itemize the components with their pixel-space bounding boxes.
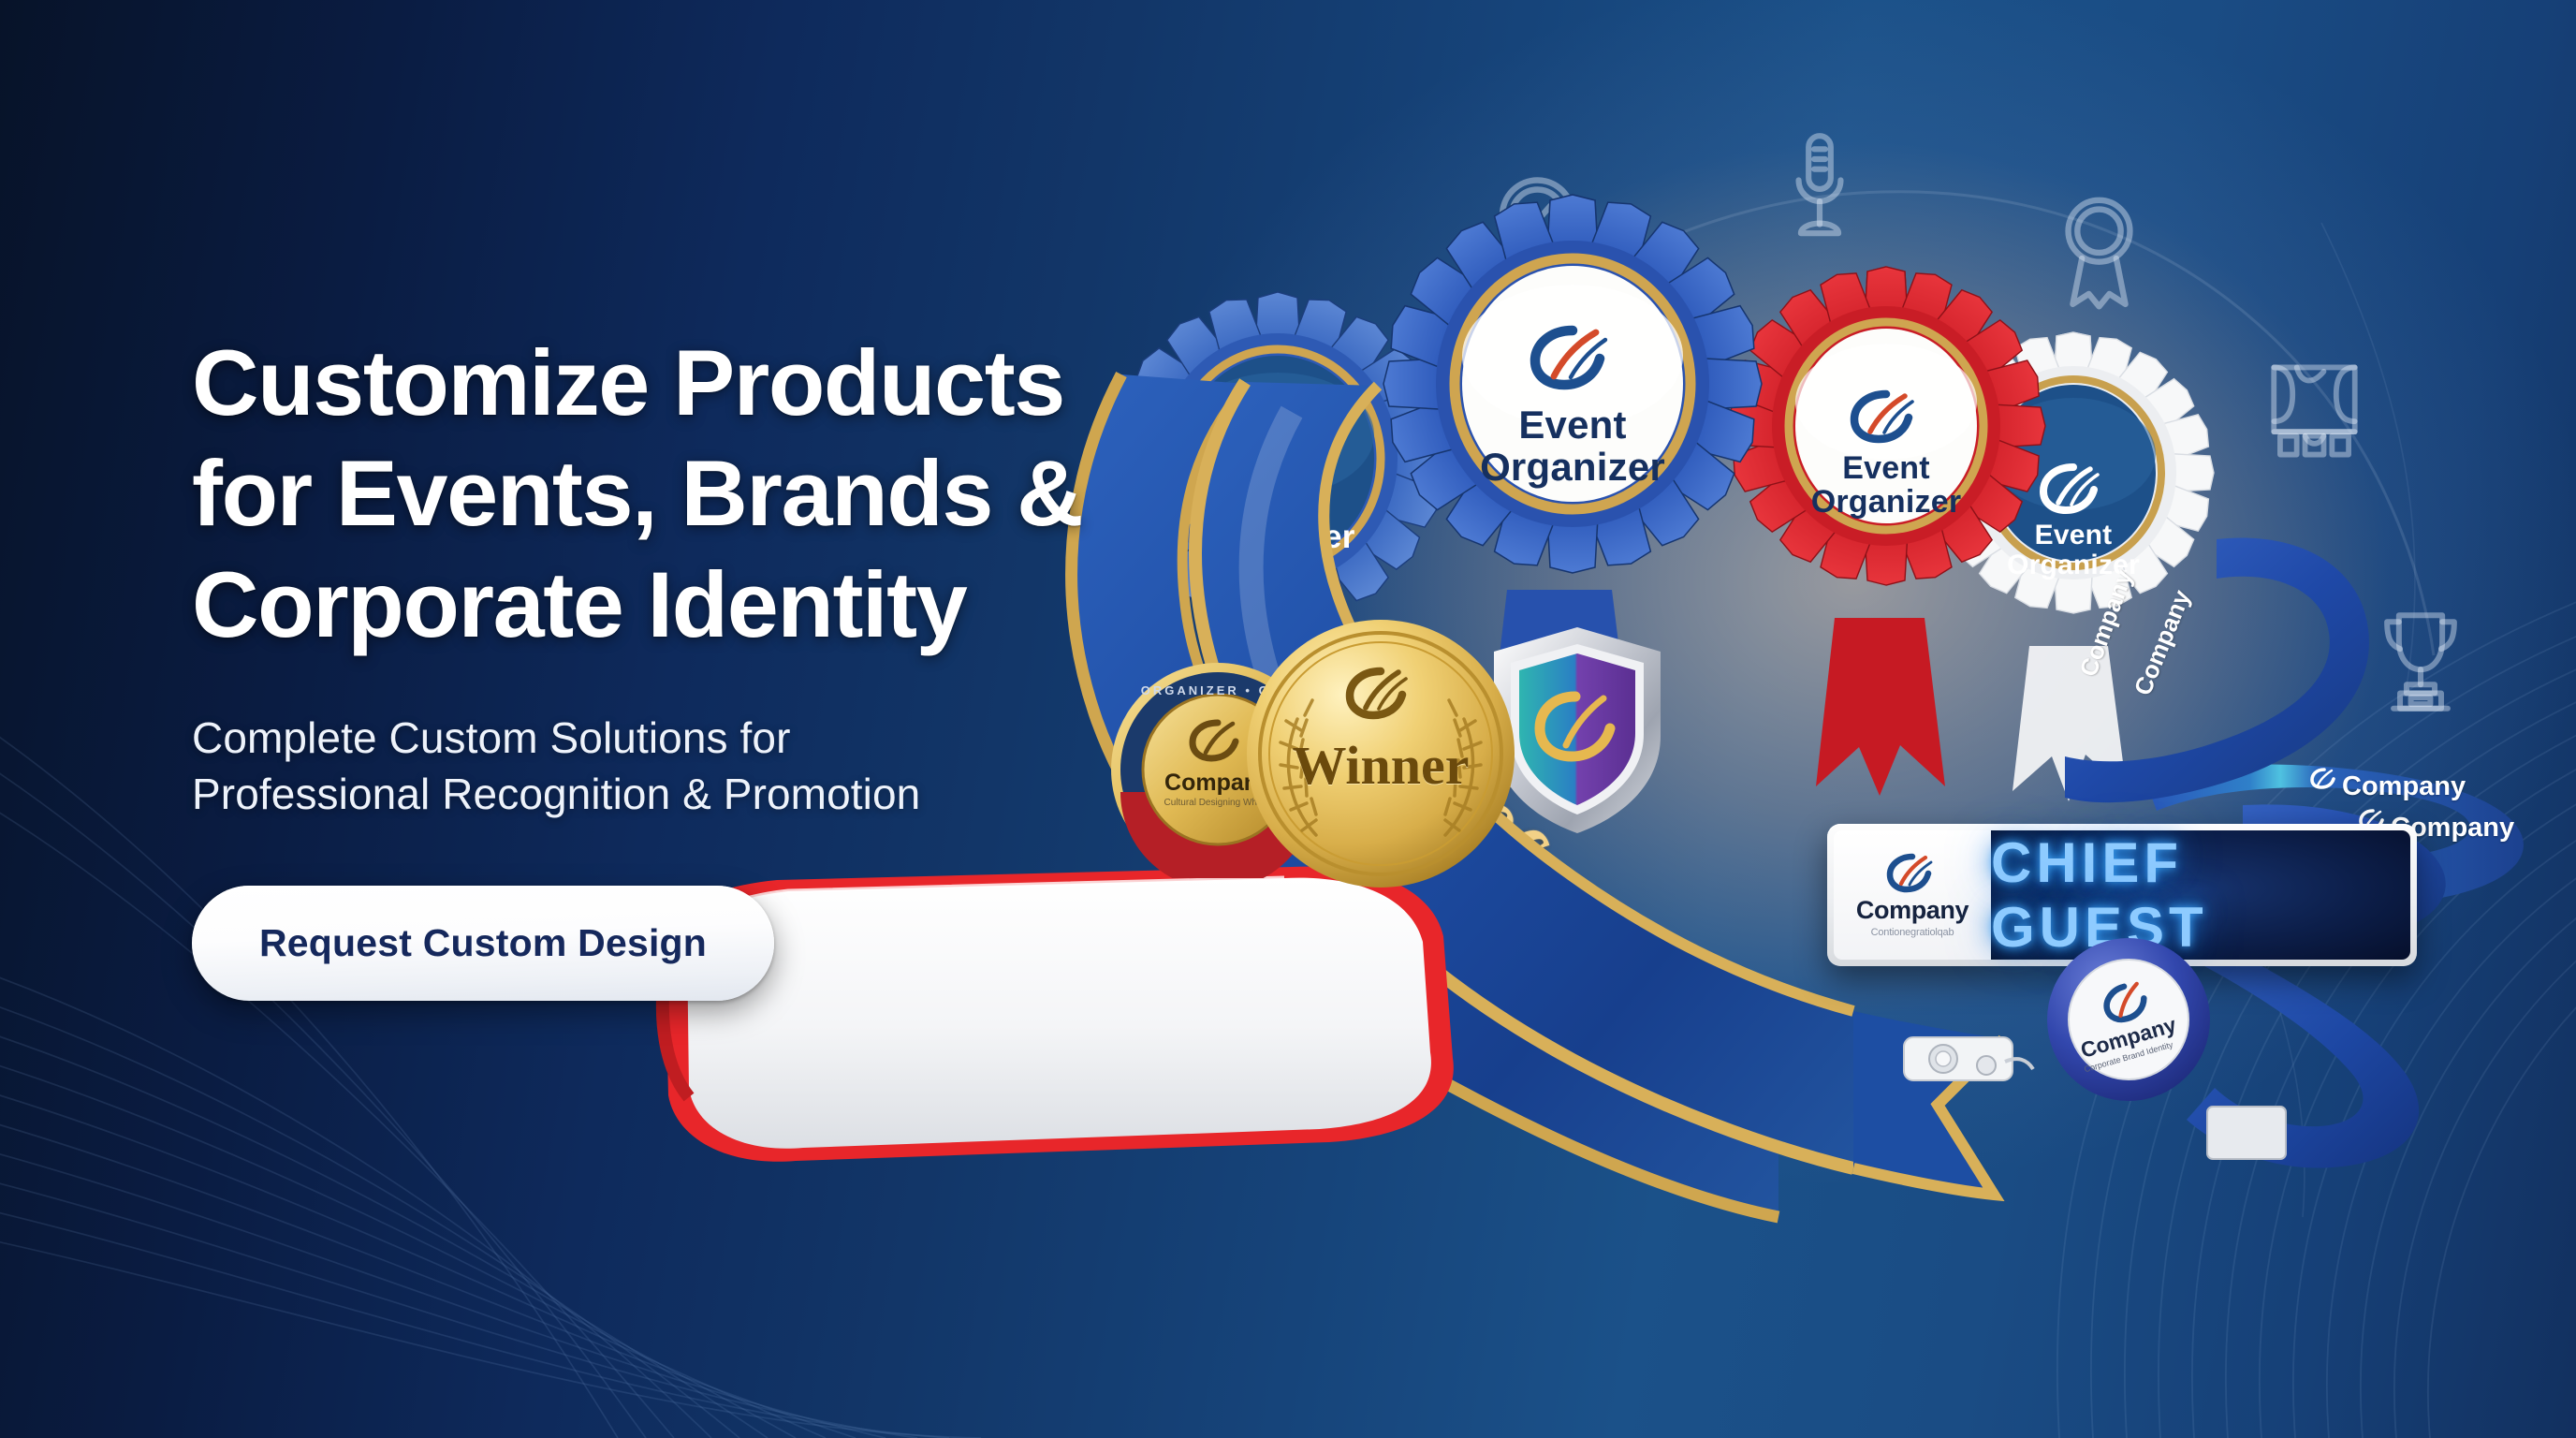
led-board-tagline: Contionegratiolqab — [1871, 927, 1954, 938]
gold-winner-medal: Winner — [1245, 618, 1516, 889]
page-title: Customize Products for Events, Brands & … — [192, 328, 1240, 660]
request-custom-design-button[interactable]: Request Custom Design — [192, 886, 774, 1001]
company-swoosh-logo — [1883, 853, 1941, 894]
company-swoosh-logo — [2308, 768, 2340, 790]
company-swoosh-logo — [1341, 667, 1420, 721]
page-subtitle: Complete Custom Solutions for Profession… — [192, 711, 1240, 823]
led-board-logo-cell: Company Contionegratiolqab — [1834, 830, 1991, 960]
lanyard-lower-text-1: Company — [2342, 771, 2466, 802]
award-products-artwork: Event Organizer — [1114, 0, 2576, 1438]
led-board-brand: Company — [1856, 896, 1969, 925]
hero-banner: Event Organizer — [0, 0, 2576, 1438]
gold-medal-label: Winner — [1245, 734, 1516, 797]
hero-copy: Customize Products for Events, Brands & … — [192, 328, 1240, 1001]
badge-clip — [1900, 1017, 2041, 1107]
reel-badge: Company Corporate Brand Identity — [2045, 936, 2212, 1103]
